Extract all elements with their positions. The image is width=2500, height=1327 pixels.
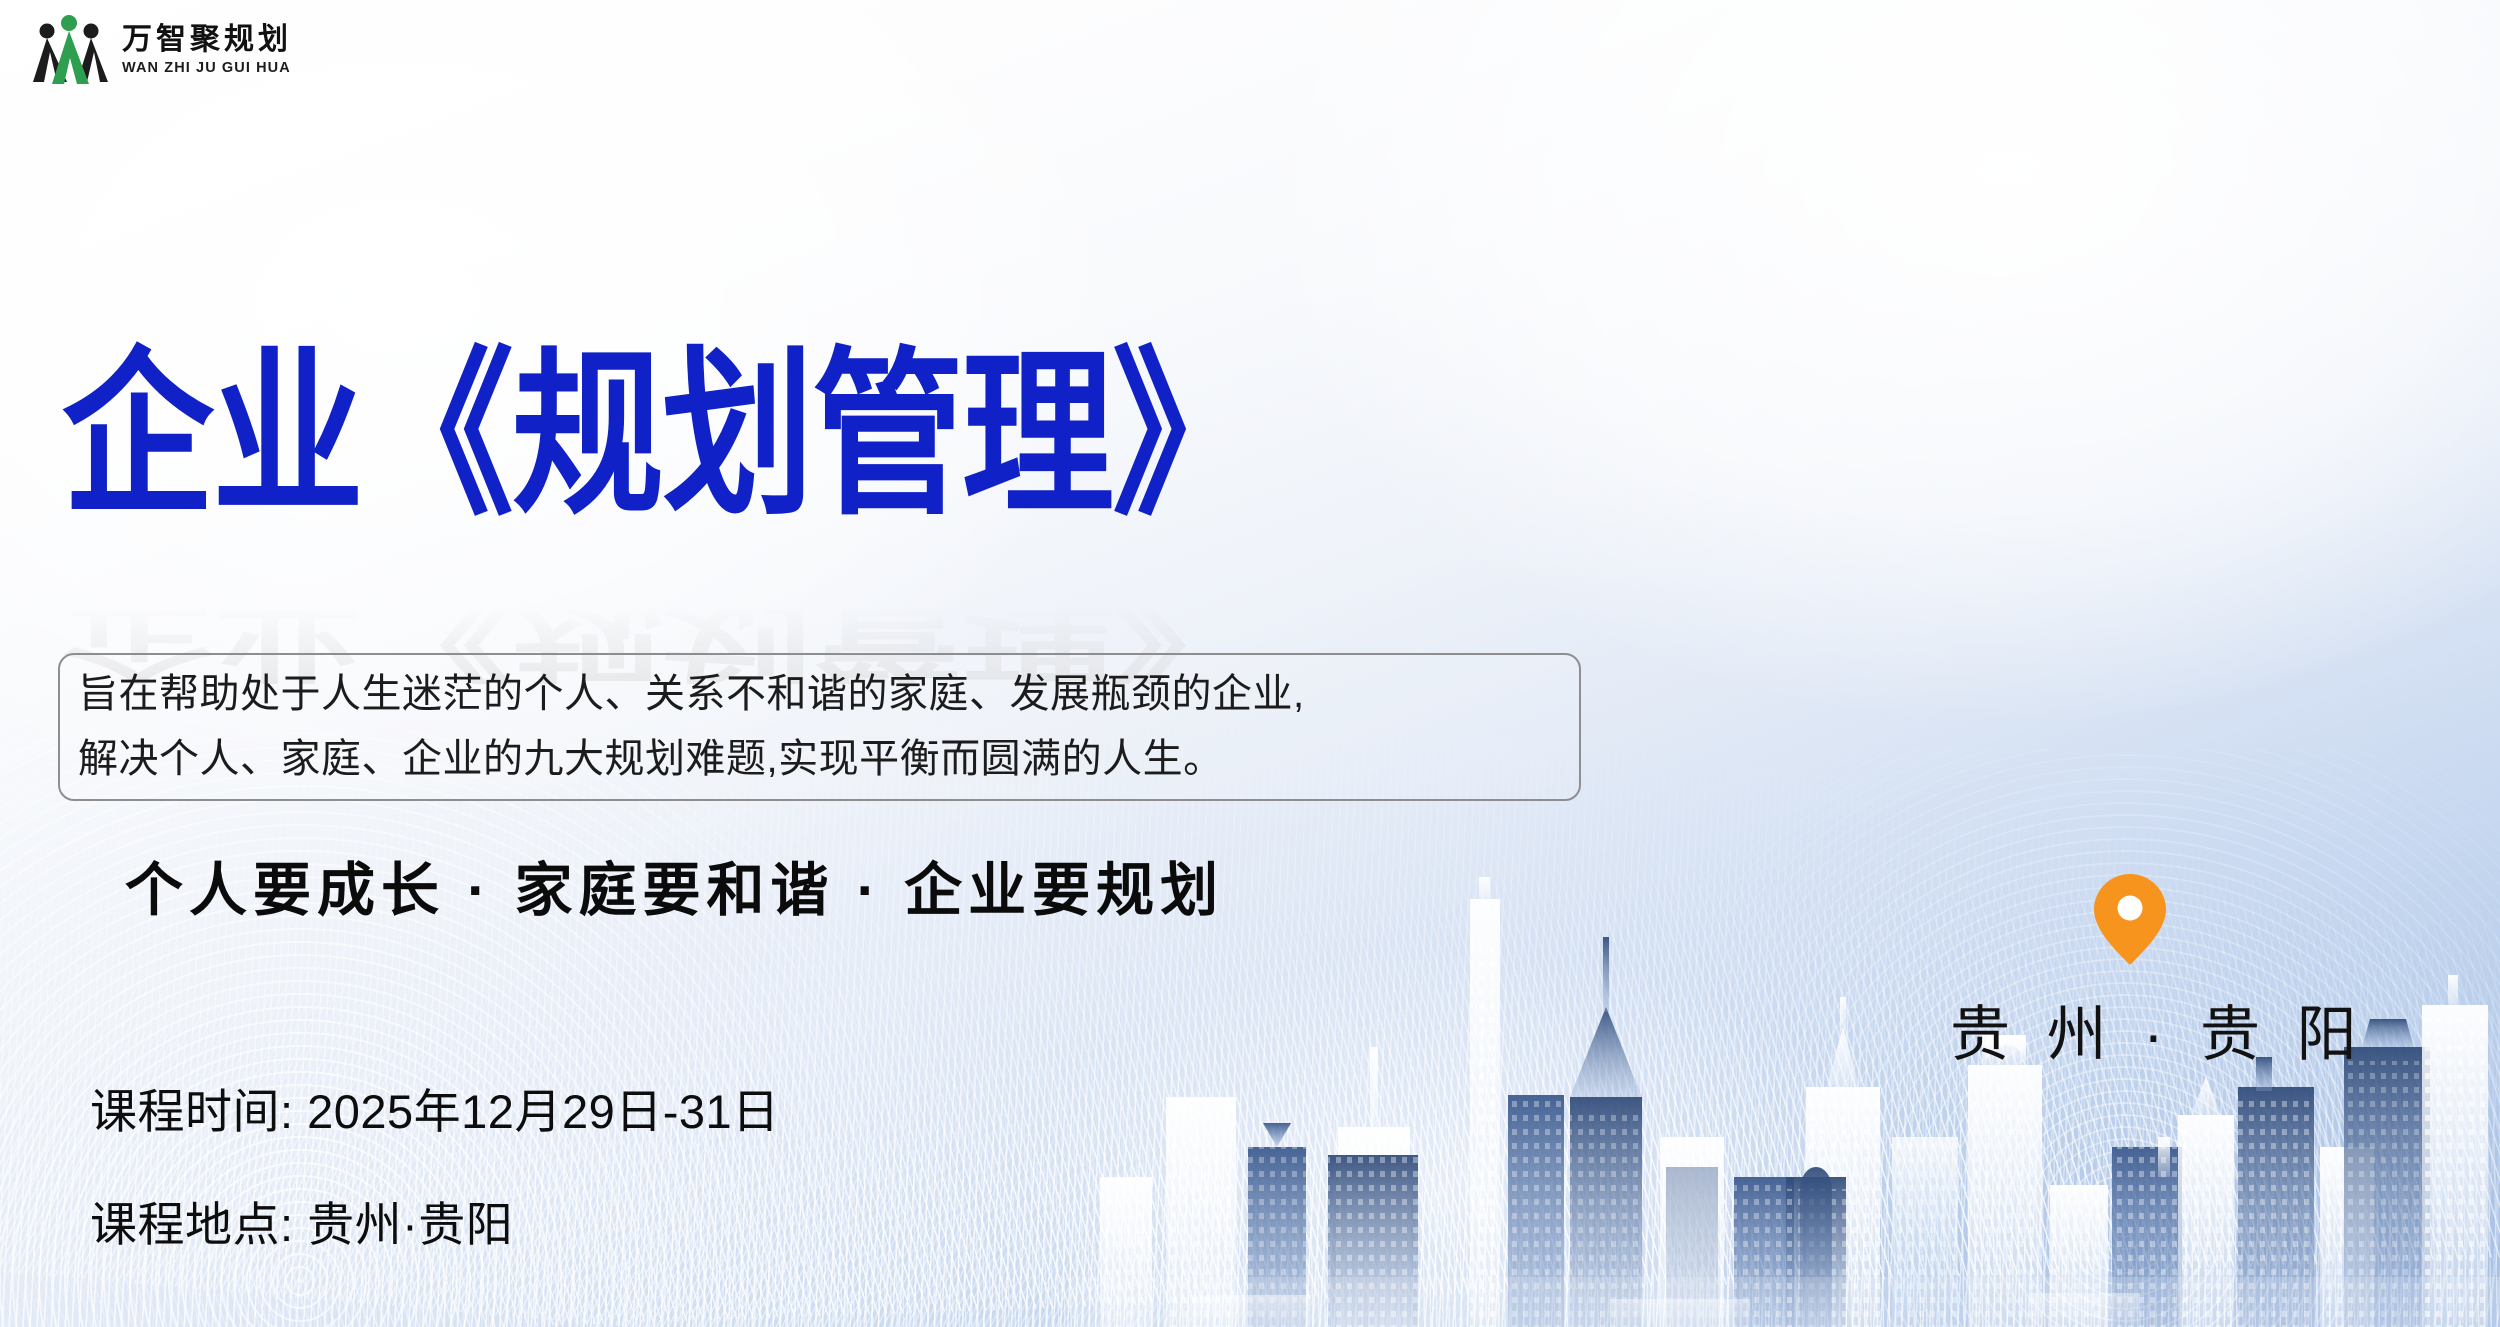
slogan-text: 个人要成长 · 家庭要和谐 · 企业要规划 [125,843,1224,927]
poster-canvas: 万智聚规划 WAN ZHI JU GUI HUA 企业《规划管理》 企业《规划管… [0,0,2500,1327]
description-line-2: 解决个人、家庭、企业的九大规划难题,实现平衡而圆满的人生。 [78,727,1563,792]
three-people-icon [30,14,108,86]
background-glow-top-right [1260,0,2500,720]
location-label: 贵 州 · 贵 阳 [1950,986,2310,1073]
course-place: 课程地点: 贵州·贵阳 [90,1186,780,1255]
location-block: 贵 州 · 贵 阳 [1950,872,2310,1073]
course-info-block: 课程时间: 2025年12月29日-31日 课程地点: 贵州·贵阳 [90,1073,780,1255]
background-glow-bottom [1000,947,1900,1327]
description-line-1: 旨在帮助处于人生迷茫的个人、关系不和谐的家庭、发展瓶颈的企业, [78,662,1563,727]
brand-name-pinyin: WAN ZHI JU GUI HUA [122,61,292,76]
map-pin-icon [1950,872,2310,966]
description-box: 旨在帮助处于人生迷茫的个人、关系不和谐的家庭、发展瓶颈的企业, 解决个人、家庭、… [58,653,1581,801]
brand-logo: 万智聚规划 WAN ZHI JU GUI HUA [30,14,292,86]
course-time: 课程时间: 2025年12月29日-31日 [90,1073,780,1142]
brand-name-cn: 万智聚规划 [122,25,292,55]
page-title: 企业《规划管理》 [62,346,1262,525]
